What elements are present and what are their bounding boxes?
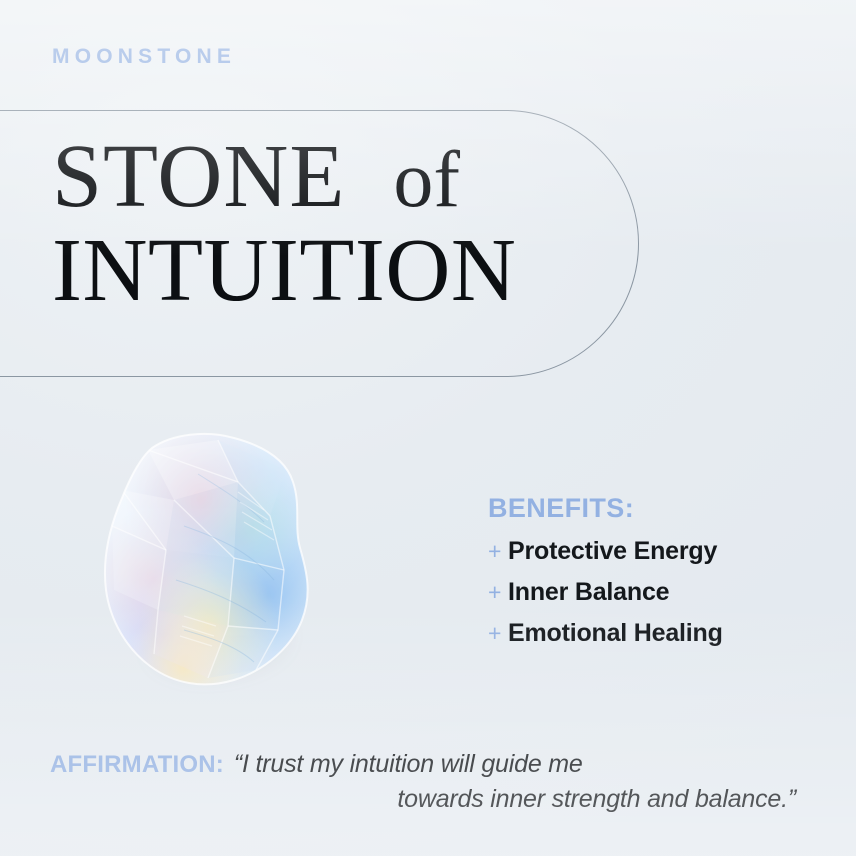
moonstone-crystal-icon — [88, 430, 338, 695]
benefits-section: BENEFITS: + Protective Energy + Inner Ba… — [488, 494, 818, 656]
benefits-heading: BENEFITS: — [488, 494, 818, 524]
plus-icon: + — [488, 535, 508, 568]
page-title-word-stone: STONE — [52, 127, 345, 226]
plus-icon: + — [488, 576, 508, 609]
moonstone-info-card: MOONSTONE STONEof INTUITION — [0, 0, 856, 856]
affirmation-section: AFFIRMATION: “I trust my intuition will … — [50, 748, 810, 816]
benefit-label: Protective Energy — [508, 533, 717, 569]
list-item: + Inner Balance — [488, 574, 818, 610]
affirmation-first-line: AFFIRMATION: “I trust my intuition will … — [50, 748, 810, 781]
benefit-label: Inner Balance — [508, 574, 669, 610]
list-item: + Emotional Healing — [488, 615, 818, 651]
category-eyebrow-label: MOONSTONE — [52, 46, 236, 67]
plus-icon: + — [488, 617, 508, 650]
affirmation-second-line: towards inner strength and balance.” — [50, 783, 810, 816]
moonstone-image — [88, 430, 338, 695]
benefit-label: Emotional Healing — [508, 615, 723, 651]
page-title: STONEof INTUITION — [52, 133, 672, 315]
page-title-line-1: STONEof — [52, 133, 672, 221]
page-title-word-of: of — [345, 136, 460, 224]
affirmation-quote-line-1: “I trust my intuition will guide me — [234, 748, 583, 781]
page-title-line-2: INTUITION — [52, 227, 672, 315]
affirmation-quote-line-2: towards inner strength and balance.” — [397, 785, 796, 813]
list-item: + Protective Energy — [488, 533, 818, 569]
affirmation-label: AFFIRMATION: — [50, 751, 224, 779]
